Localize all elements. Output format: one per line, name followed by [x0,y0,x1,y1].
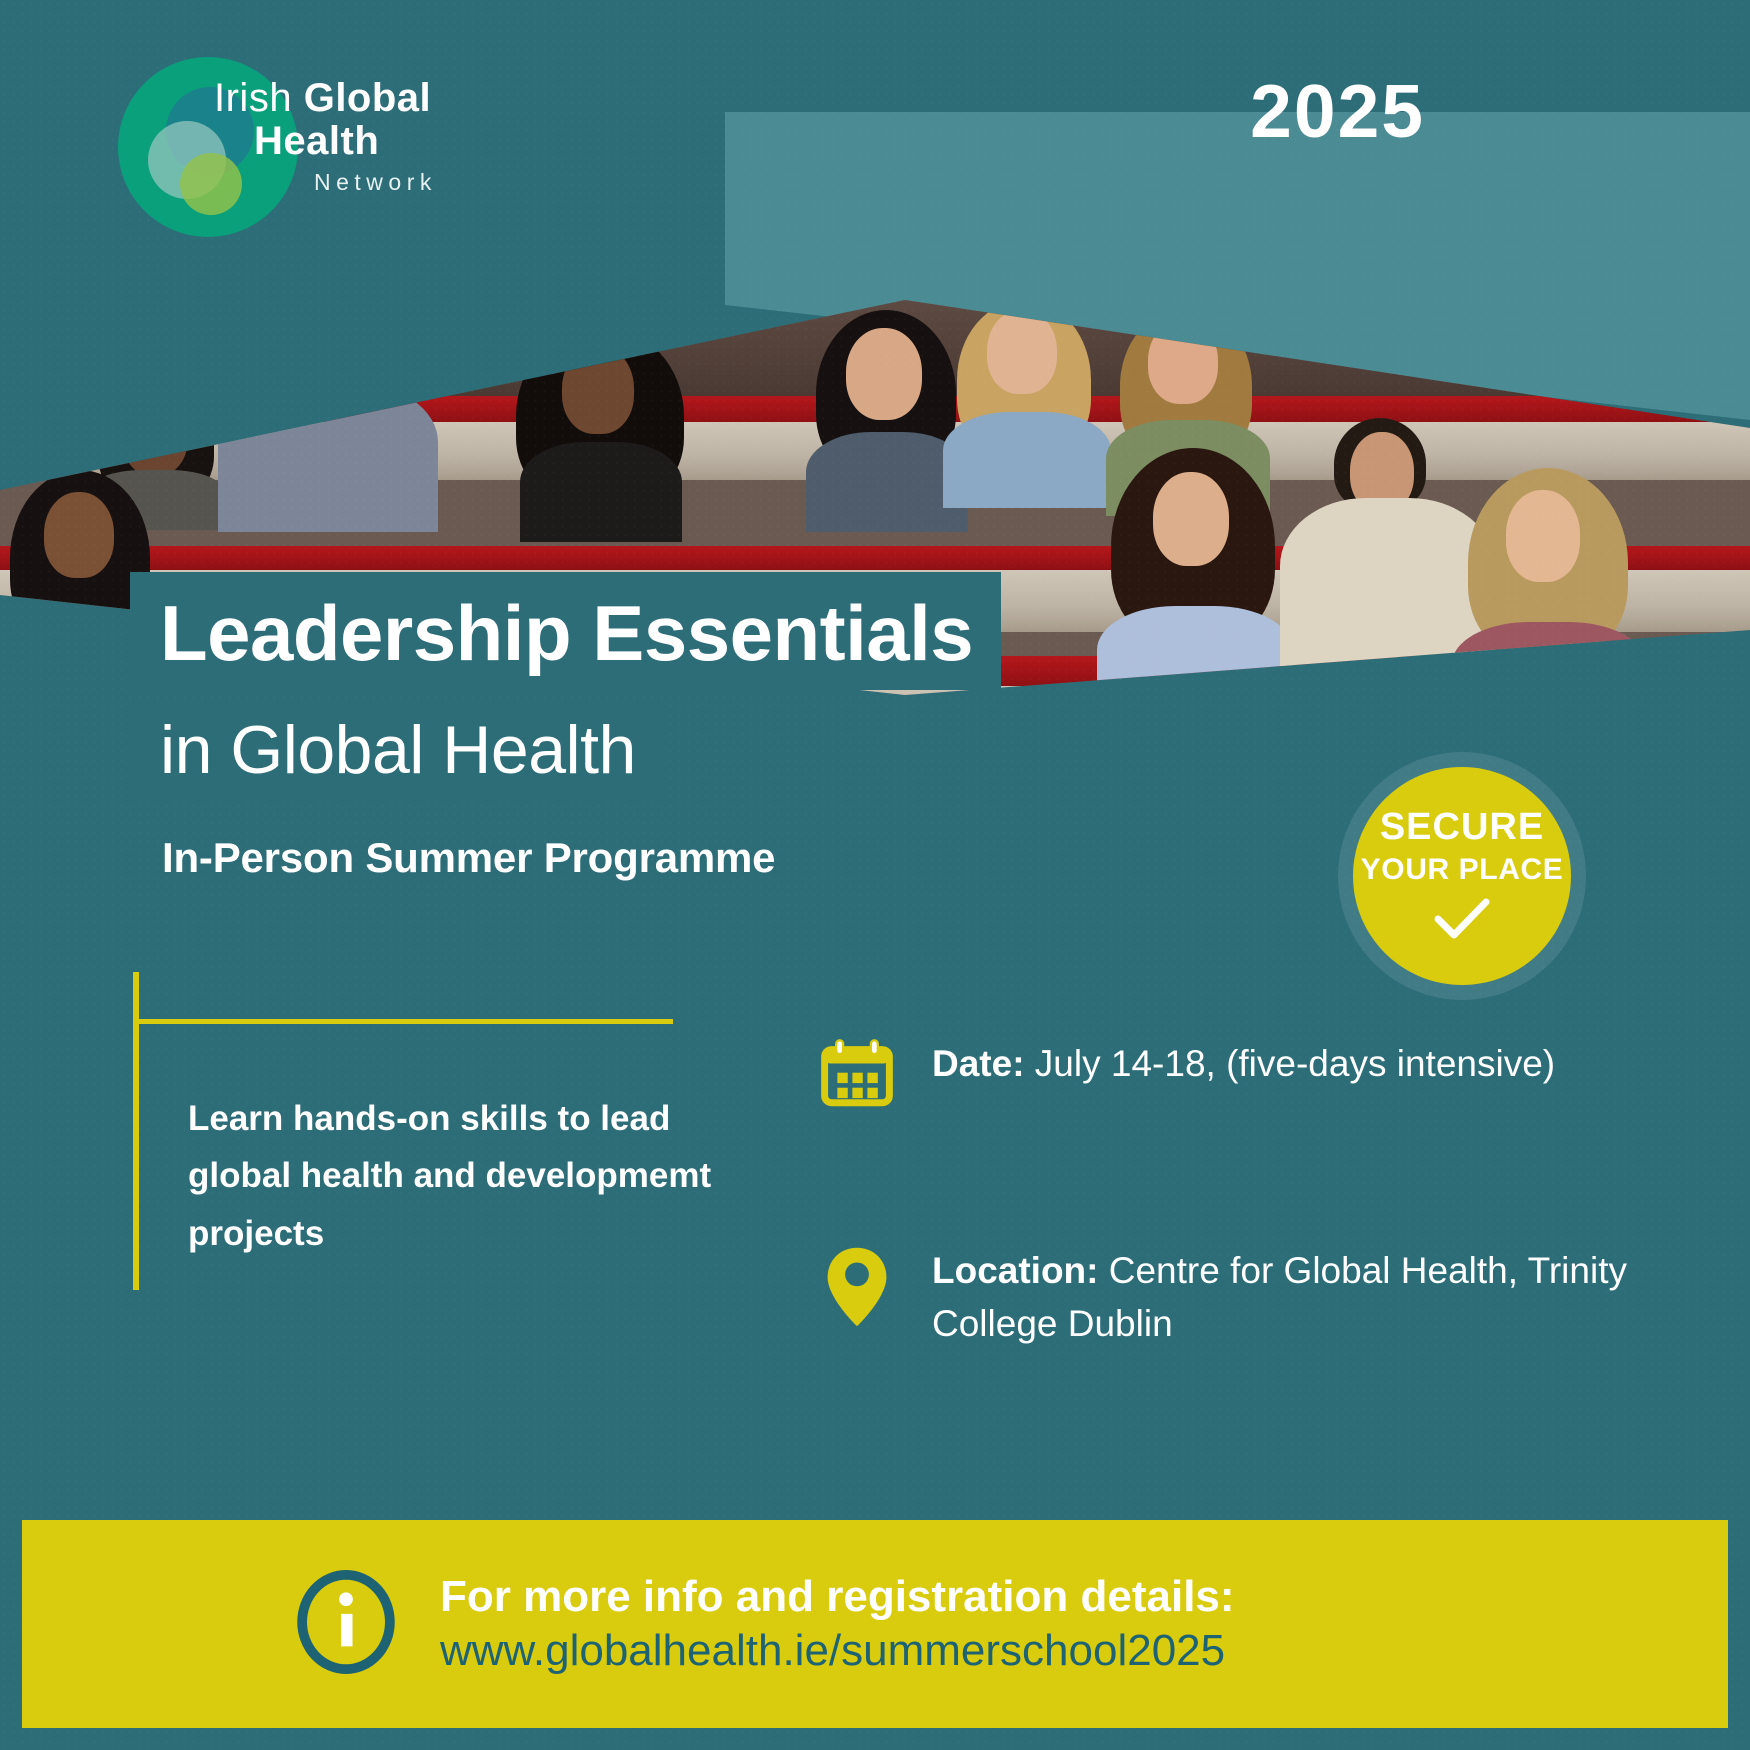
footer-line-1: For more info and registration details: [440,1570,1235,1624]
badge-line-1: SECURE [1380,806,1544,849]
map-pin-icon [820,1245,894,1334]
footer-bar: For more info and registration details: … [22,1520,1728,1728]
secure-your-place-badge[interactable]: SECURE YOUR PLACE [1353,767,1571,985]
year-label: 2025 [1250,68,1425,154]
irish-global-health-network-logo: Irish Global Health Network [118,57,478,242]
calendar-icon [820,1038,894,1117]
logo-line3: Network [314,169,484,196]
location-label: Location: [932,1250,1098,1291]
footer-text: For more info and registration details: … [440,1570,1235,1677]
info-icon [294,1570,398,1679]
title-subtitle: In-Person Summer Programme [162,834,1001,882]
title-block: Leadership Essentials in Global Health I… [130,572,1001,882]
poster-canvas: Irish Global Health Network 2025 Leaders… [0,0,1750,1750]
logo-line2: Health [254,120,484,163]
location-text: Location: Centre for Global Health, Trin… [932,1245,1750,1350]
highlight-text: Learn hands-on skills to lead global hea… [188,1090,728,1262]
date-value: July 14-18, (five-days intensive) [1025,1043,1556,1084]
check-icon [1433,897,1491,946]
detail-row-date: Date: July 14-18, (five-days intensive) [820,1038,1555,1117]
badge-line-2: YOUR PLACE [1361,853,1564,887]
logo-line1b: Global [304,76,431,120]
logo-line1a: Irish [214,76,292,120]
date-label: Date: [932,1043,1025,1084]
date-text: Date: July 14-18, (five-days intensive) [932,1038,1555,1091]
highlight-bracket-horizontal [133,1019,673,1024]
footer-url[interactable]: www.globalhealth.ie/summerschool2025 [440,1624,1235,1678]
title-line-1: Leadership Essentials [130,572,1001,690]
detail-row-location: Location: Centre for Global Health, Trin… [820,1245,1750,1350]
logo-wordmark: Irish Global Health Network [214,77,484,196]
title-line-2: in Global Health [130,702,666,802]
